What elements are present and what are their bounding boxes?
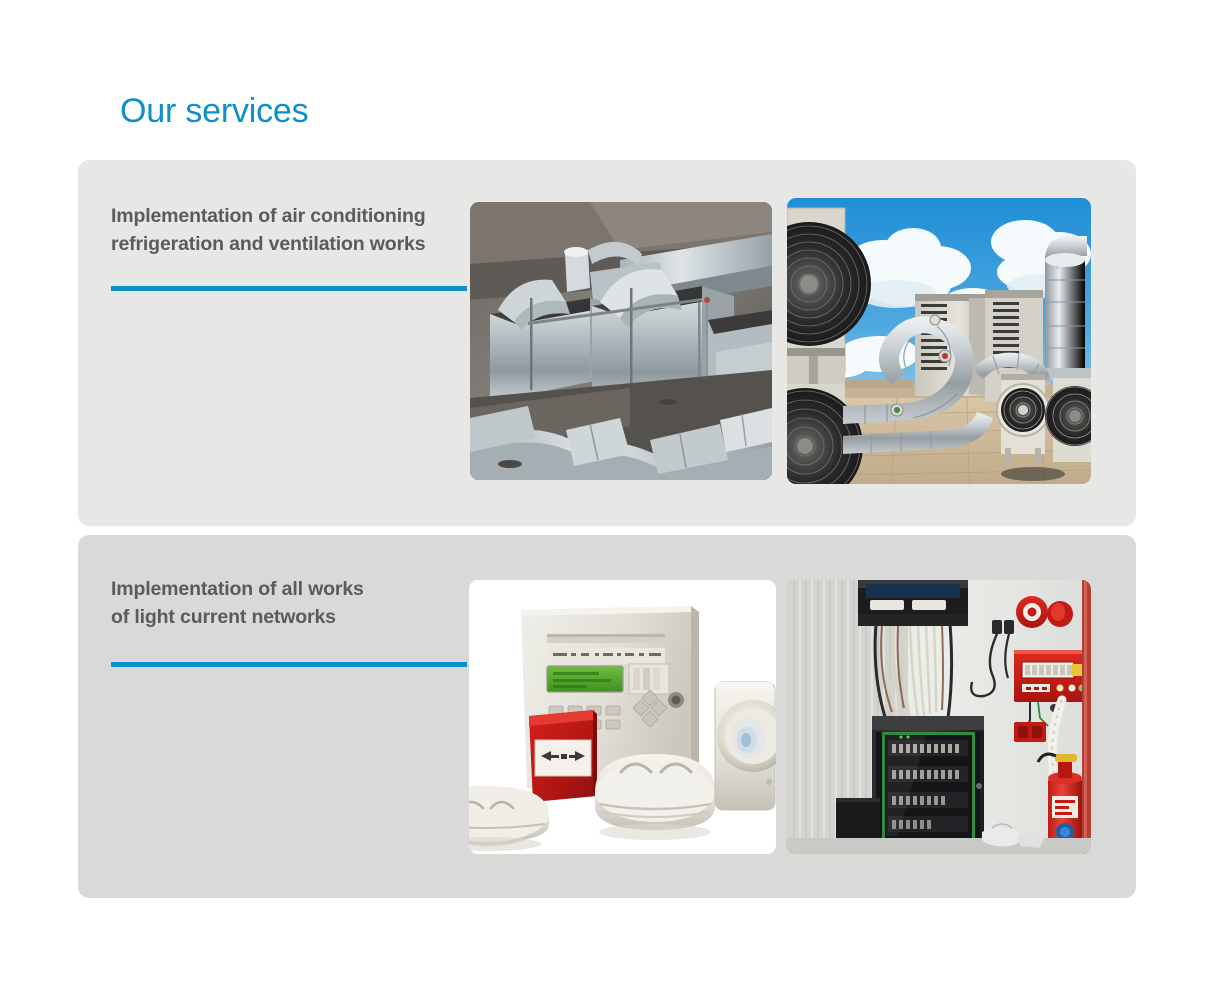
service-image-hvac-rooftop-ductwork	[470, 202, 772, 480]
service-panel-air-conditioning: Implementation of air conditioning refri…	[78, 160, 1136, 526]
service-heading: Implementation of air conditioning refri…	[111, 202, 491, 258]
hvac-duct-photo-icon	[470, 202, 772, 480]
service-accent-rule	[111, 662, 467, 667]
slide-canvas: Our services Implementation of air condi…	[0, 0, 1230, 998]
service-panel-light-current-networks: Implementation of all works of light cur…	[78, 535, 1136, 898]
service-image-hvac-condensers-pipework	[787, 198, 1091, 484]
service-image-fire-alarm-equipment	[469, 580, 776, 854]
service-image-network-rack-installation	[786, 580, 1091, 854]
service-accent-rule	[111, 286, 467, 291]
fire-alarm-photo-icon	[469, 580, 776, 854]
hvac-condenser-photo-icon	[787, 198, 1091, 484]
service-text-column: Implementation of all works of light cur…	[111, 575, 491, 631]
page-title: Our services	[120, 92, 308, 131]
service-text-column: Implementation of air conditioning refri…	[111, 202, 491, 258]
network-rack-photo-icon	[786, 580, 1091, 854]
service-heading: Implementation of all works of light cur…	[111, 575, 491, 631]
